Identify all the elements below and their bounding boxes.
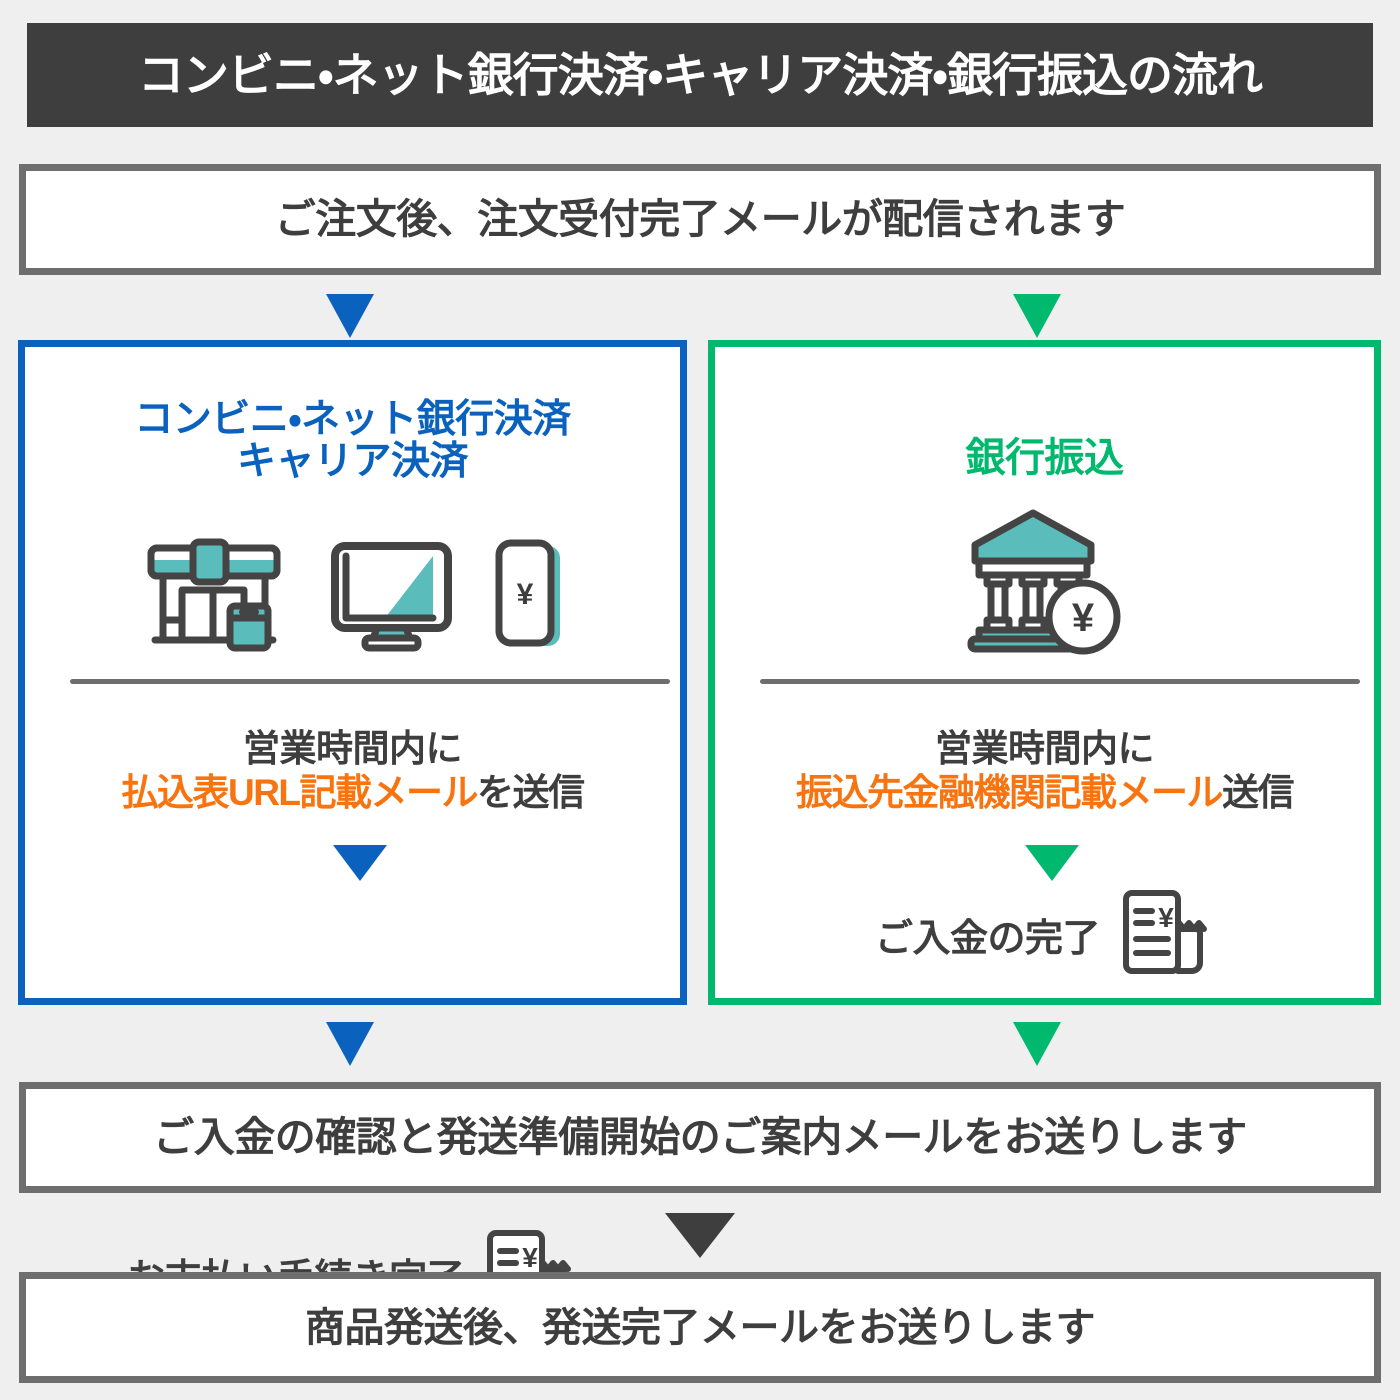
smartphone-yen-icon: ¥ xyxy=(494,538,566,653)
down-arrow-green-top-icon xyxy=(1013,294,1061,338)
panel-title-conbini-line1: コンビニ・ネット銀行決済 xyxy=(25,399,680,441)
step-payment-confirmed-box: ご入金の確認と発送準備開始のご案内メールをお送りします xyxy=(19,1082,1381,1193)
step-order-label: ご注文後、注文受付完了メールが配信されます xyxy=(275,199,1126,240)
desktop-monitor-icon xyxy=(329,538,454,653)
conbini-send-highlight: 払込表URL記載メール xyxy=(121,772,477,813)
step-order-box: ご注文後、注文受付完了メールが配信されます xyxy=(19,164,1381,275)
down-arrow-blue-bottom-icon xyxy=(326,1022,374,1066)
method-panel-bank: 銀行振込 xyxy=(708,340,1381,1005)
bank-yen-icon: ¥ xyxy=(957,505,1132,655)
bank-send-suffix: 送信 xyxy=(1222,772,1293,813)
svg-text:¥: ¥ xyxy=(1158,902,1174,933)
bank-send-highlight: 振込先金融機関記載メール xyxy=(796,772,1222,813)
payment-flow-diagram: コンビニ・ネット銀行決済・キャリア決済・銀行振込の流れ ご注文後、注文受付完了メ… xyxy=(0,0,1400,1400)
bank-send-line2: 振込先金融機関記載メール送信 xyxy=(715,771,1374,815)
svg-text:¥: ¥ xyxy=(1072,596,1095,640)
down-arrow-blue-inner-icon xyxy=(333,845,387,881)
svg-text:¥: ¥ xyxy=(522,1242,538,1273)
method-panel-conbini: コンビニ・ネット銀行決済 キャリア決済 xyxy=(18,340,687,1005)
conbini-send-block: 営業時間内に 払込表URL記載メールを送信 xyxy=(25,727,680,814)
step-payment-confirmed-label: ご入金の確認と発送準備開始のご案内メールをお送りします xyxy=(153,1117,1247,1158)
panel-title-conbini: コンビニ・ネット銀行決済 キャリア決済 xyxy=(25,399,680,482)
conbini-send-line1: 営業時間内に xyxy=(25,727,680,771)
down-arrow-dark-icon xyxy=(665,1213,735,1258)
conbini-send-suffix: を送信 xyxy=(477,772,584,813)
bank-done-label: ご入金の完了 xyxy=(875,907,1100,962)
step-shipped-label: 商品発送後、発送完了メールをお送りします xyxy=(305,1308,1095,1348)
svg-text:¥: ¥ xyxy=(517,578,534,611)
down-arrow-green-inner-icon xyxy=(1025,845,1079,881)
conbini-send-line2: 払込表URL記載メールを送信 xyxy=(25,771,680,815)
bank-send-line1: 営業時間内に xyxy=(715,727,1374,771)
down-arrow-blue-top-icon xyxy=(326,294,374,338)
step-shipped-box: 商品発送後、発送完了メールをお送りします xyxy=(19,1272,1381,1383)
conbini-icon-row: ¥ xyxy=(25,535,680,655)
panel-title-conbini-line2: キャリア決済 xyxy=(25,441,680,483)
bank-icon-row: ¥ xyxy=(715,502,1374,657)
panel-title-bank: 銀行振込 xyxy=(715,437,1374,480)
convenience-store-icon xyxy=(139,538,289,653)
diagram-title-bar: コンビニ・ネット銀行決済・キャリア決済・銀行振込の流れ xyxy=(27,23,1373,127)
conbini-divider xyxy=(70,679,670,684)
bank-divider xyxy=(760,679,1360,684)
diagram-title: コンビニ・ネット銀行決済・キャリア決済・銀行振込の流れ xyxy=(138,52,1262,98)
panel-title-bank-line1: 銀行振込 xyxy=(715,437,1374,480)
bank-done-row: ご入金の完了 ¥ xyxy=(715,887,1374,982)
down-arrow-green-bottom-icon xyxy=(1013,1022,1061,1066)
invoice-yen-icon: ¥ xyxy=(1114,887,1214,982)
bank-send-block: 営業時間内に 振込先金融機関記載メール送信 xyxy=(715,727,1374,814)
